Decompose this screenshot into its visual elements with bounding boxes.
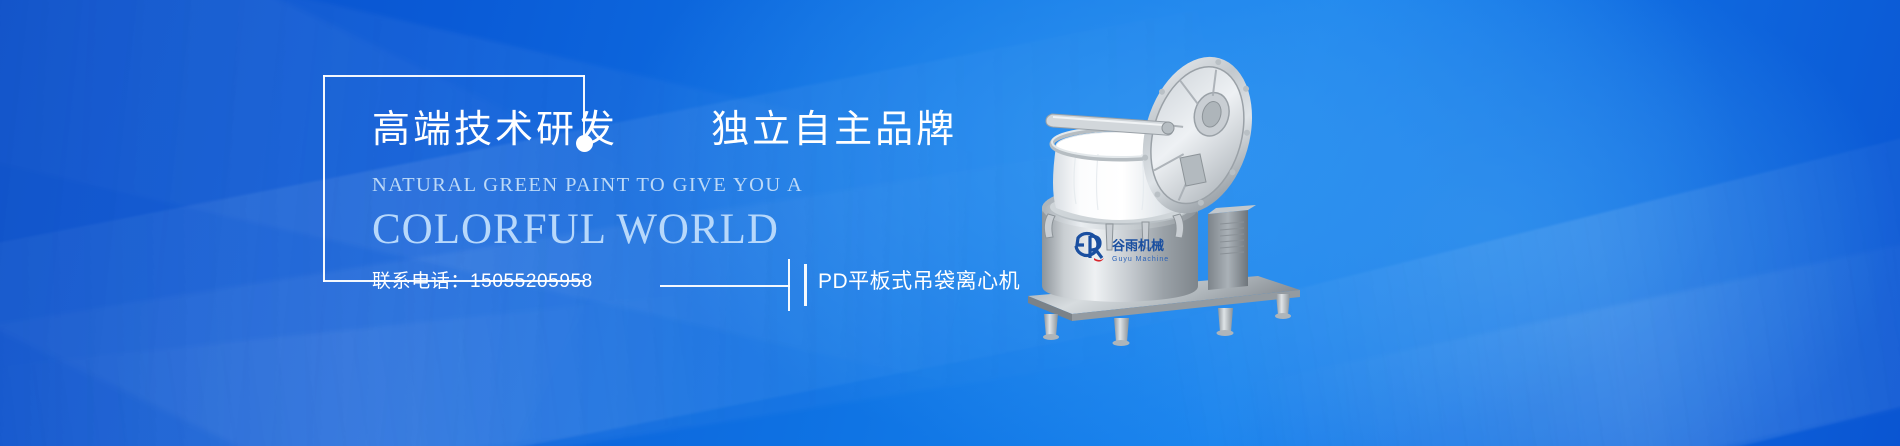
caption-connector-bar: [788, 259, 790, 311]
headline-right-text: 独立自主品牌: [711, 109, 957, 151]
subtitle-english: NATURAL GREEN PAINT TO GIVE YOU A: [372, 174, 992, 197]
product-caption: PD平板式吊袋离心机: [818, 265, 1020, 295]
centrifuge-machine-image: 谷雨机械 Guyu Machine: [1020, 18, 1350, 348]
headline: 高端技术研发 独立自主品牌: [372, 108, 992, 154]
background-light-streak: [0, 294, 705, 446]
promo-banner: 高端技术研发 独立自主品牌 NATURAL GREEN PAINT TO GIV…: [0, 0, 1900, 446]
caption-connector-line: [660, 285, 790, 287]
svg-text:谷雨机械: 谷雨机械: [1112, 238, 1164, 253]
decorative-frame-left-edge: [323, 75, 325, 282]
decorative-frame-top-edge: [323, 75, 585, 77]
tagline-english: COLORFUL WORLD: [372, 205, 992, 254]
headline-left-text: 高端技术研发: [372, 109, 618, 151]
svg-text:Guyu Machine: Guyu Machine: [1112, 256, 1169, 263]
caption-tick-mark: [804, 264, 807, 306]
